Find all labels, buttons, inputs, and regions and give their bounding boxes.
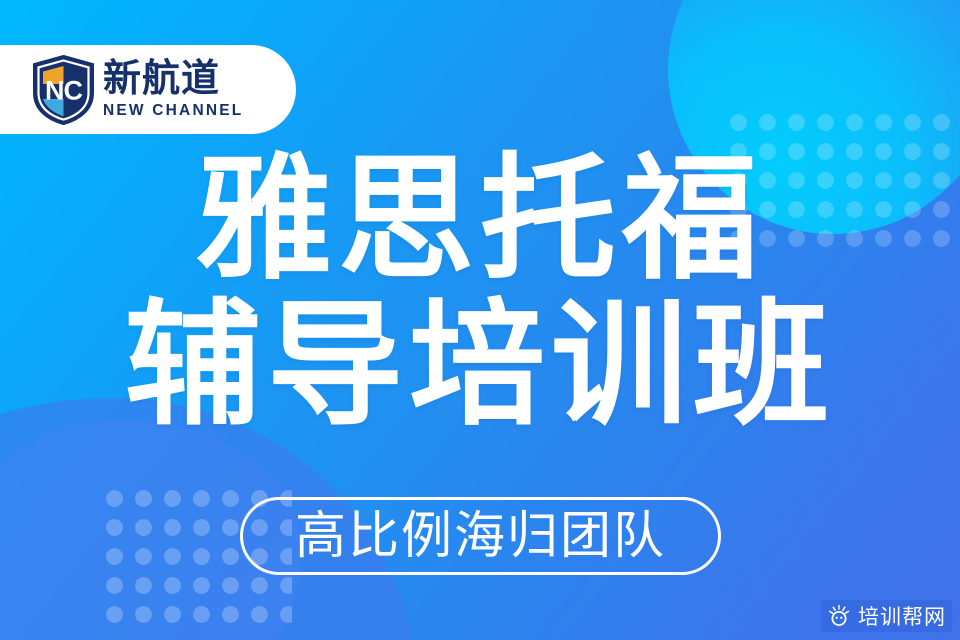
watermark: 培训帮网 <box>821 600 952 632</box>
brand-text-block: 新航道 NEW CHANNEL <box>103 60 243 119</box>
brand-logo-pill: NC 新航道 NEW CHANNEL <box>0 45 296 134</box>
promo-banner: NC 新航道 NEW CHANNEL 雅思托福 辅导培训班 高比例海归团队 <box>0 0 960 640</box>
brand-name-en: NEW CHANNEL <box>103 103 243 119</box>
subtitle-pill: 高比例海归团队 <box>240 497 721 575</box>
watermark-text: 培训帮网 <box>858 601 946 631</box>
headline-line-1: 雅思托福 <box>0 146 960 292</box>
shield-logo-icon: NC <box>32 55 95 125</box>
brand-name-cn: 新航道 <box>103 60 243 98</box>
headline-line-2: 辅导培训班 <box>0 292 960 438</box>
svg-text:NC: NC <box>45 75 82 105</box>
brand-logo: NC 新航道 NEW CHANNEL <box>32 55 243 125</box>
subtitle-text: 高比例海归团队 <box>295 509 666 563</box>
headline-block: 雅思托福 辅导培训班 <box>0 146 960 438</box>
sun-face-icon <box>827 604 851 628</box>
